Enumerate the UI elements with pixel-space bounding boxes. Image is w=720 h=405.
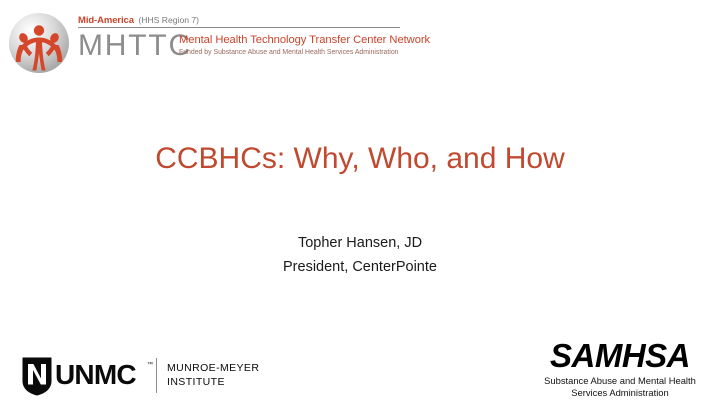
unmc-subunit-name: MUNROE-MEYER INSTITUTE	[167, 361, 259, 389]
unmc-subunit-line-2: INSTITUTE	[167, 375, 259, 389]
mhttc-full-name: Mental Health Technology Transfer Center…	[179, 34, 430, 47]
mhttc-sphere-figures-icon	[8, 12, 70, 74]
samhsa-tagline: Substance Abuse and Mental Health Servic…	[528, 375, 712, 399]
slide-title: CCBHCs: Why, Who, and How	[0, 141, 720, 177]
unmc-wordmark: UNMC	[55, 360, 136, 390]
unmc-subunit-line-1: MUNROE-MEYER	[167, 361, 259, 375]
presenter-byline: Topher Hansen, JD President, CenterPoint…	[0, 231, 720, 279]
mhttc-region-line: Mid-America (HHS Region 7)	[78, 13, 199, 26]
samhsa-tagline-line-2: Services Administration	[528, 387, 712, 399]
mhttc-logo: Mid-America (HHS Region 7) MHTTC Mental …	[8, 12, 400, 74]
unmc-logo: UNMC ™ MUNROE-MEYER INSTITUTE	[22, 355, 272, 399]
unmc-trademark-symbol: ™	[147, 362, 153, 369]
mhttc-region-detail: (HHS Region 7)	[138, 15, 199, 25]
header-divider-rule	[78, 27, 400, 28]
presenter-title: President, CenterPointe	[0, 255, 720, 279]
mhttc-funded-by: Funded by Substance Abuse and Mental Hea…	[179, 48, 398, 57]
unmc-n-shield-icon	[22, 357, 52, 396]
samhsa-tagline-line-1: Substance Abuse and Mental Health	[528, 375, 712, 387]
samhsa-wordmark: SAMHSA	[528, 338, 712, 374]
mhttc-text-lockup: Mid-America (HHS Region 7) MHTTC Mental …	[78, 13, 400, 73]
unmc-vertical-divider	[156, 358, 157, 393]
presentation-slide: Mid-America (HHS Region 7) MHTTC Mental …	[0, 0, 720, 405]
presenter-name: Topher Hansen, JD	[0, 231, 720, 255]
samhsa-logo: SAMHSA Substance Abuse and Mental Health…	[528, 338, 712, 400]
mhttc-region-name: Mid-America	[78, 15, 134, 26]
mhttc-acronym: MHTTC	[78, 31, 192, 61]
